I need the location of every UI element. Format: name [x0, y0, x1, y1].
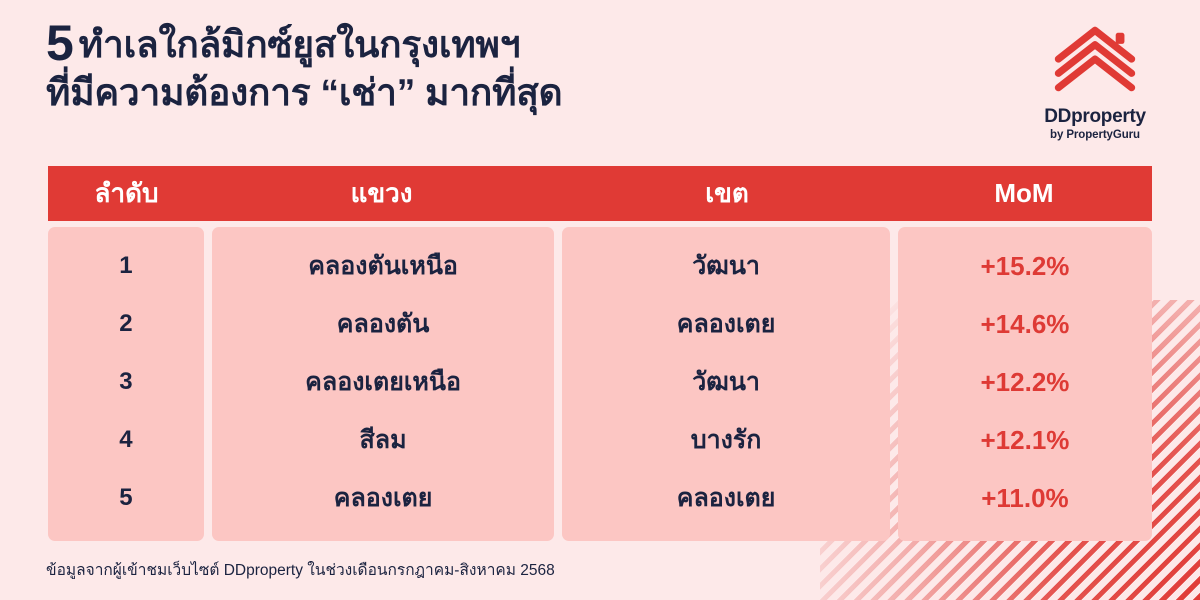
cell-district: วัฒนา: [562, 237, 890, 295]
column-rank: 1 2 3 4 5: [48, 227, 204, 541]
title-line-2: ที่มีความต้องการ “เช่า” มากที่สุด: [46, 70, 563, 115]
column-mom: +15.2% +14.6% +12.2% +12.1% +11.0%: [898, 227, 1152, 541]
cell-rank: 4: [48, 411, 204, 469]
cell-mom: +14.6%: [898, 295, 1152, 353]
logo-tagline: by PropertyGuru: [1050, 129, 1140, 141]
title-line-1: 5ทำเลใกล้มิกซ์ยูสในกรุงเทพฯ: [46, 18, 563, 68]
cell-rank: 1: [48, 237, 204, 295]
ddproperty-logo: DDproperty by PropertyGuru: [1020, 18, 1170, 141]
cell-district: คลองเตย: [562, 469, 890, 527]
cell-district: คลองเตย: [562, 295, 890, 353]
table-body: 1 2 3 4 5 คลองตันเหนือ คลองตัน คลองเตยเห…: [48, 227, 1152, 541]
header-bar: 5ทำเลใกล้มิกซ์ยูสในกรุงเทพฯ ที่มีความต้อ…: [46, 18, 1170, 158]
page-title: 5ทำเลใกล้มิกซ์ยูสในกรุงเทพฯ ที่มีความต้อ…: [46, 18, 563, 115]
cell-district: วัฒนา: [562, 353, 890, 411]
column-header-subdistrict: แขวง: [205, 173, 558, 214]
column-header-rank: ลำดับ: [48, 173, 205, 214]
cell-subdistrict: คลองตัน: [212, 295, 554, 353]
headline-number: 5: [46, 15, 74, 71]
cell-mom: +15.2%: [898, 237, 1152, 295]
cell-mom: +12.1%: [898, 411, 1152, 469]
table-header-row: ลำดับ แขวง เขต MoM: [48, 166, 1152, 221]
cell-rank: 2: [48, 295, 204, 353]
cell-rank: 3: [48, 353, 204, 411]
cell-subdistrict: คลองเตย: [212, 469, 554, 527]
infographic-page: 5ทำเลใกล้มิกซ์ยูสในกรุงเทพฯ ที่มีความต้อ…: [0, 0, 1200, 600]
source-footnote: ข้อมูลจากผู้เข้าชมเว็บไซต์ DDproperty ใน…: [46, 557, 555, 582]
column-subdistrict: คลองตันเหนือ คลองตัน คลองเตยเหนือ สีลม ค…: [212, 227, 554, 541]
cell-subdistrict: คลองเตยเหนือ: [212, 353, 554, 411]
cell-mom: +11.0%: [898, 469, 1152, 527]
title-text-1: ทำเลใกล้มิกซ์ยูสในกรุงเทพฯ: [79, 24, 521, 65]
cell-mom: +12.2%: [898, 353, 1152, 411]
ranking-table: ลำดับ แขวง เขต MoM 1 2 3 4 5 คลองตันเหนื…: [48, 166, 1152, 541]
chimney-icon: [1116, 33, 1125, 44]
column-header-district: เขต: [558, 173, 896, 214]
cell-district: บางรัก: [562, 411, 890, 469]
cell-subdistrict: คลองตันเหนือ: [212, 237, 554, 295]
column-header-mom: MoM: [896, 178, 1152, 209]
cell-subdistrict: สีลม: [212, 411, 554, 469]
column-district: วัฒนา คลองเตย วัฒนา บางรัก คลองเตย: [562, 227, 890, 541]
ddproperty-roof-icon: [1047, 24, 1143, 102]
cell-rank: 5: [48, 469, 204, 527]
logo-wordmark: DDproperty: [1044, 106, 1146, 128]
